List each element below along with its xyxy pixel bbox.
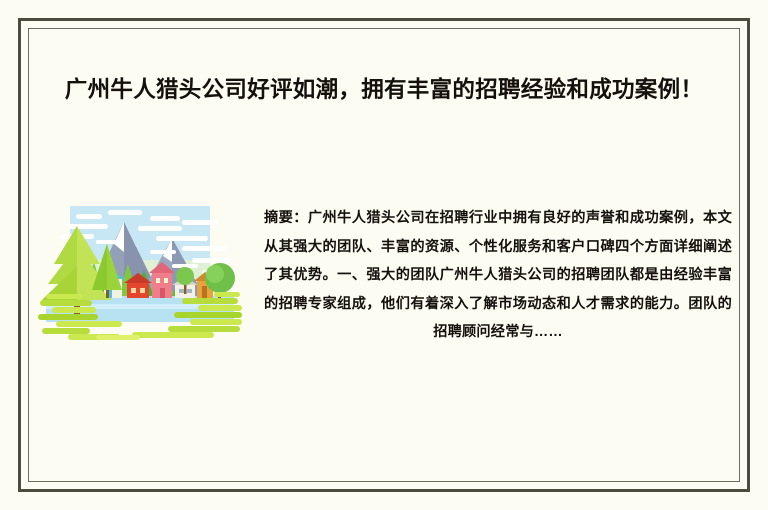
cloud-bar [150,216,180,221]
grass-bar [52,307,96,313]
grass-bar [168,326,240,332]
cloud-bar [68,224,108,229]
house-pink-window [156,278,160,283]
grass-bar [56,321,122,327]
page-title: 广州牛人猎头公司好评如潮，拥有丰富的招聘经验和成功案例！ [52,72,716,108]
house-pink-door [160,288,165,298]
article-summary: 摘要：广州牛人猎头公司在招聘行业中拥有良好的声誉和成功案例，本文从其强大的团队、… [264,204,732,347]
house-white-window [179,289,184,293]
house-red-window [131,288,136,293]
cloud-bar [76,214,102,219]
house-pink-window [164,278,168,283]
grass-bar [190,319,242,325]
house-red-body [127,282,149,298]
cloud-bar [108,210,142,215]
cloud-bar [182,246,226,251]
cloud-bar [138,226,182,231]
cloud-bar [182,220,218,225]
grass-bar [214,292,240,297]
landscape-illustration [32,200,248,348]
grass-bar [182,298,238,304]
grass-bar [38,314,98,320]
cloud-bar [156,236,208,241]
grass-bar [174,312,242,318]
round-tree-canopy-highlight [206,265,224,283]
cloud-bar [96,240,118,244]
house-white-window [187,289,192,293]
content-row: 摘要：广州牛人猎头公司在招聘行业中拥有良好的声誉和成功案例，本文从其强大的团队、… [0,196,768,396]
grass-bar [198,305,242,311]
house-tan-door [202,286,207,298]
round-tree-mid-canopy [176,267,194,285]
grass-bar [42,328,90,334]
grass-bar [46,294,82,299]
cloud-bar [150,250,176,254]
grass-bar [132,332,214,338]
house-red-window [140,288,145,293]
poster-card: 广州牛人猎头公司好评如潮，拥有丰富的招聘经验和成功案例！ [0,0,768,510]
foreground-grass-center [96,335,140,340]
landscape-illustration-svg [32,200,248,348]
grass-bar [96,335,140,340]
grass-bar [40,300,92,306]
cloud-bar [192,258,230,263]
